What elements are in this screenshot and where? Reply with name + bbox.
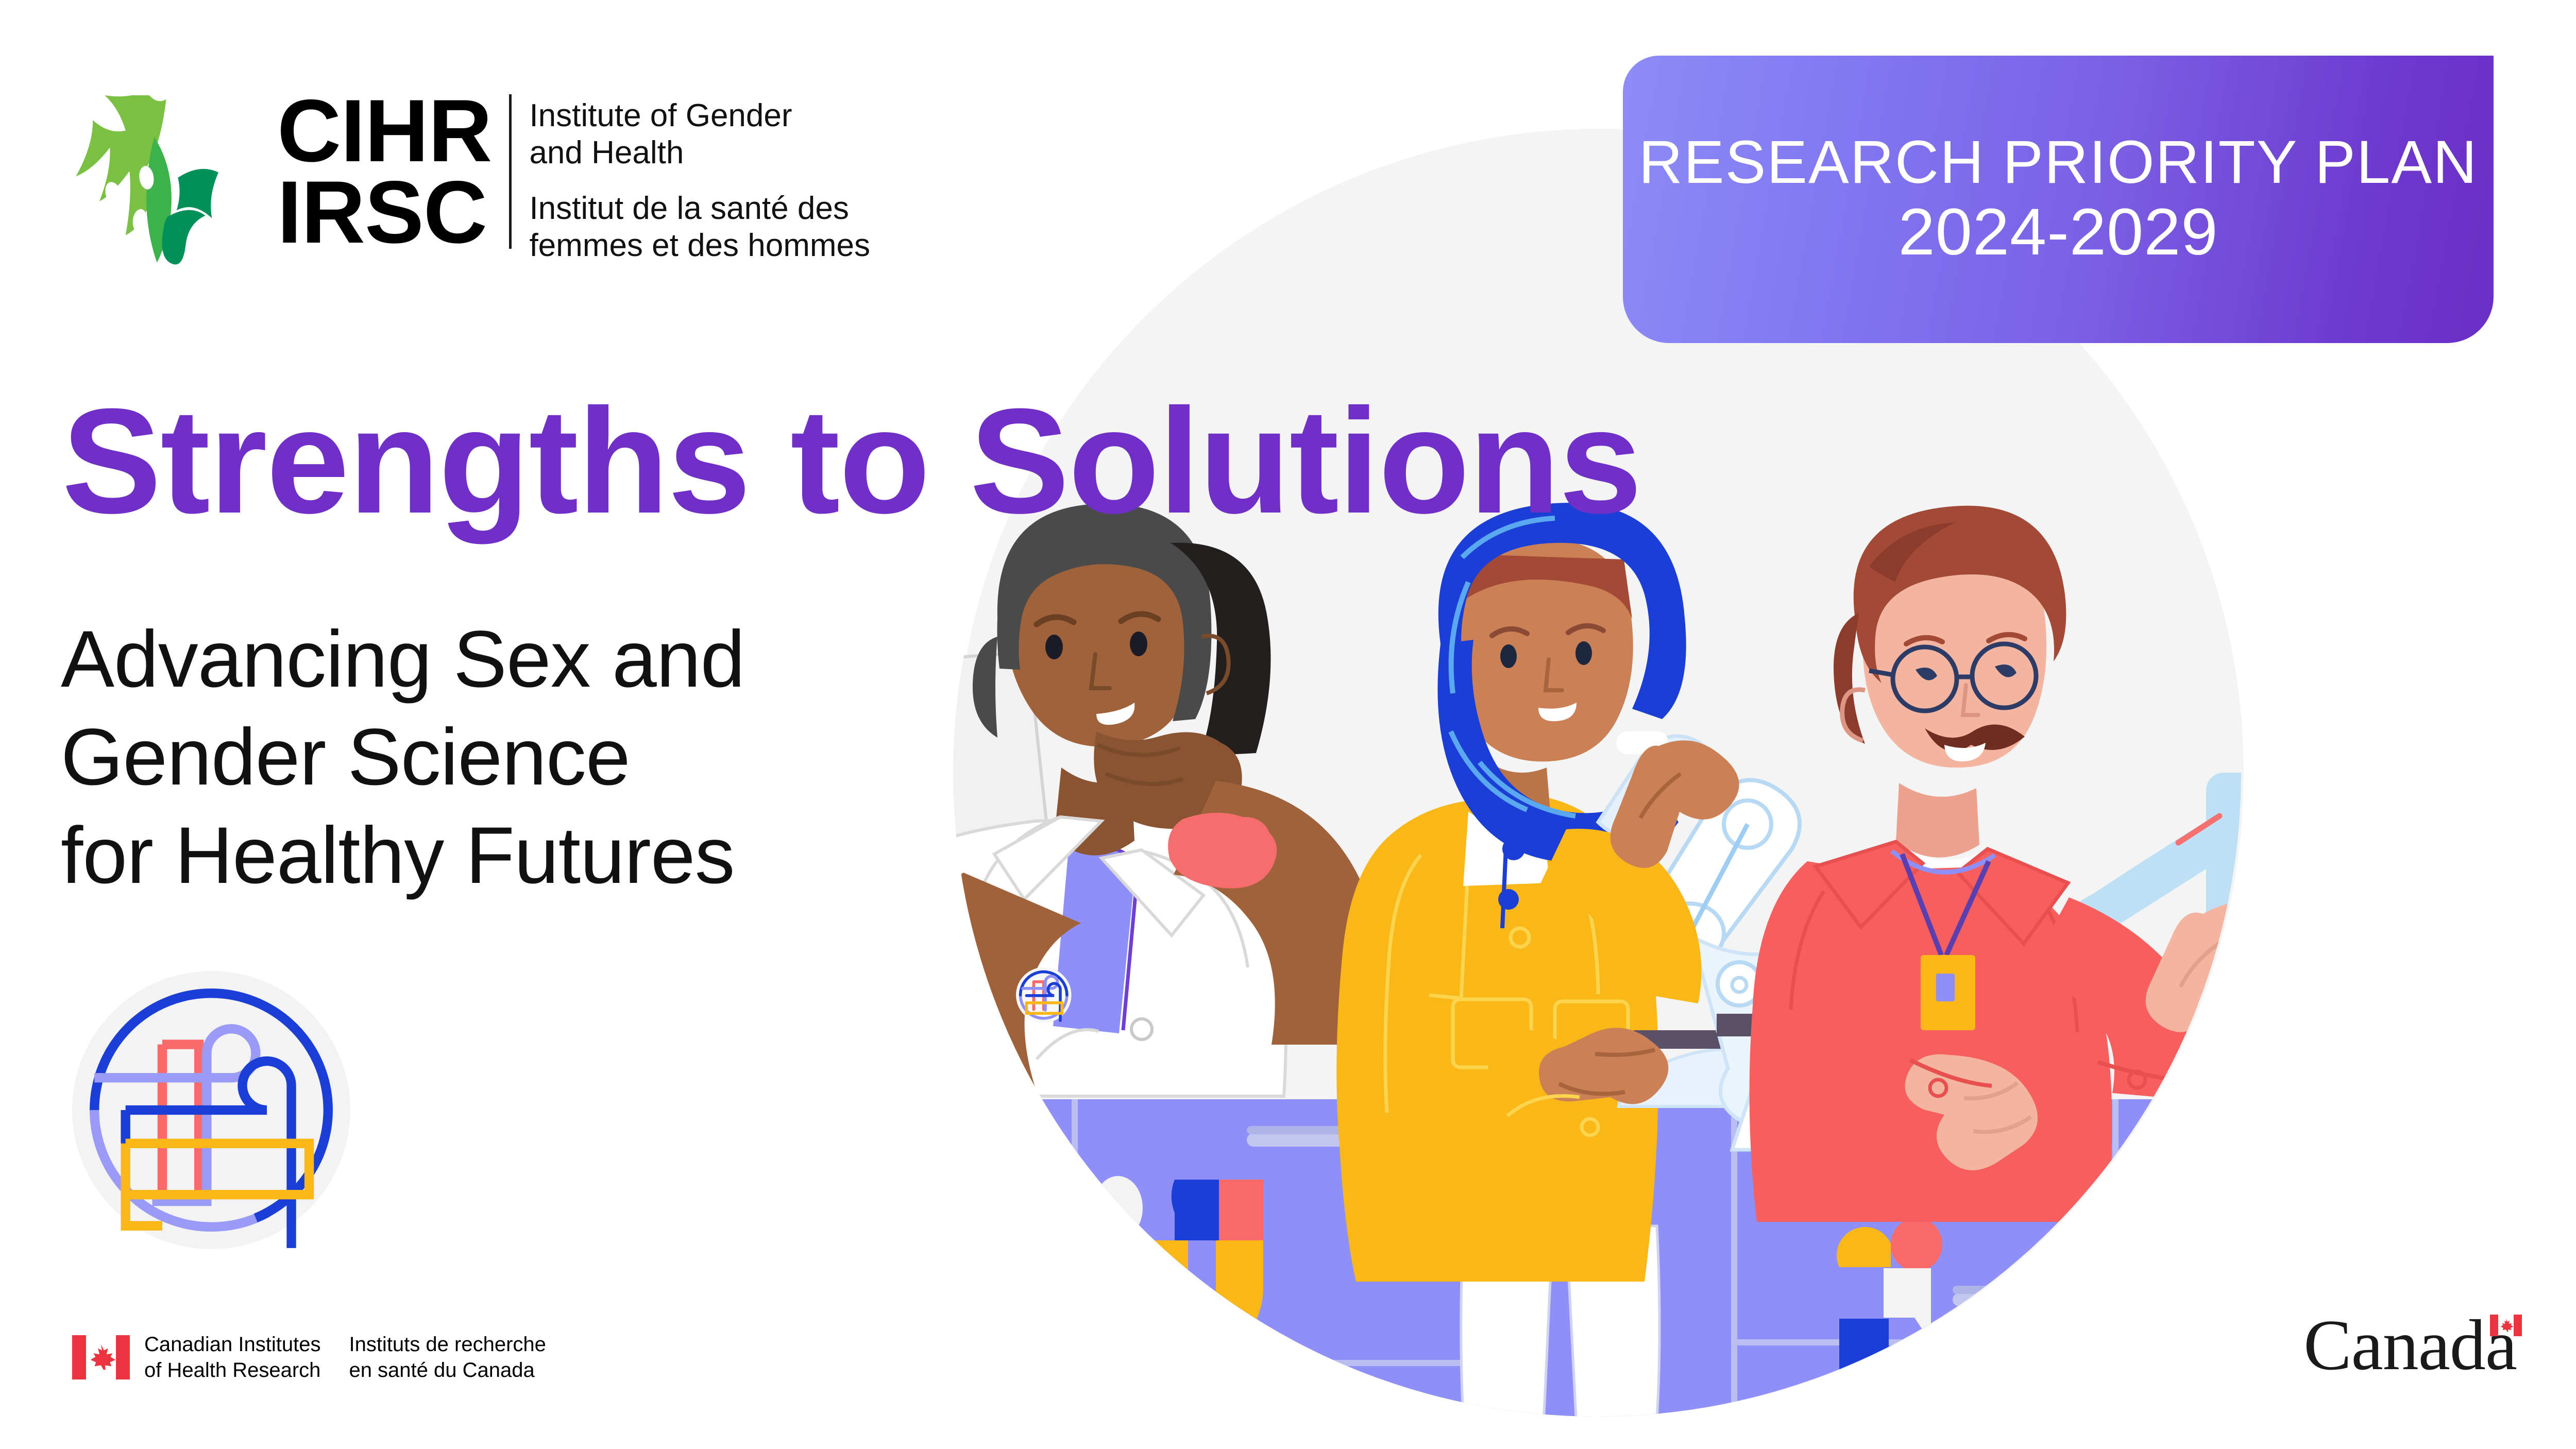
cihr-footer: Canadian Institutes of Health Research I…	[72, 1332, 546, 1383]
canada-wordmark-text: Canada	[2303, 1312, 2517, 1379]
emblem-weave-icon	[72, 971, 350, 1249]
maple-leaf-people-icon	[67, 95, 268, 265]
logo-name-fr-2: femmes et des hommes	[529, 227, 870, 264]
logo-divider	[509, 94, 512, 249]
cihr-logo: CIHR IRSC Institute of Gender and Health…	[67, 90, 870, 265]
page-title: Strengths to Solutions	[62, 386, 1659, 536]
badge-years: 2024-2029	[1898, 195, 2218, 269]
footer-fr-line-2: en santé du Canada	[349, 1357, 546, 1383]
page-subtitle: Advancing Sex and Gender Science for Hea…	[61, 610, 937, 905]
logo-acronym-en: CIHR	[277, 90, 492, 172]
footer-en-line-2: of Health Research	[144, 1357, 320, 1383]
poster-canvas: RESEARCH PRIORITY PLAN 2024-2029 CIHR IR…	[0, 0, 2576, 1449]
footer-fr-line-1: Instituts de recherche	[349, 1332, 546, 1357]
badge-title: RESEARCH PRIORITY PLAN	[1639, 130, 2478, 195]
canada-wordmark: Canada	[2303, 1312, 2522, 1379]
logo-name-fr-1: Institut de la santé des	[529, 190, 870, 227]
logo-acronym-fr: IRSC	[277, 172, 492, 253]
research-priority-plan-badge: RESEARCH PRIORITY PLAN 2024-2029	[1623, 56, 2494, 343]
lab-illustration	[855, 489, 2401, 1449]
woven-knot-emblem	[72, 971, 350, 1249]
canada-flag-icon	[2490, 1315, 2522, 1336]
logo-name-en-1: Institute of Gender	[529, 97, 870, 134]
bench-motif-left	[1093, 1176, 1263, 1365]
subtitle-line-3: for Healthy Futures	[61, 807, 937, 905]
coat-emblem-badge	[1016, 967, 1072, 1023]
figure-researcher-tablet	[1750, 506, 2347, 1222]
footer-en-line-1: Canadian Institutes	[144, 1332, 320, 1357]
maple-leaf-icon	[86, 1342, 116, 1372]
subtitle-line-2: Gender Science	[61, 708, 937, 806]
canada-flag-icon	[72, 1335, 130, 1379]
subtitle-line-1: Advancing Sex and	[61, 610, 937, 708]
maple-leaf-icon	[2498, 1318, 2514, 1333]
tablet	[2206, 773, 2347, 976]
logo-name-en-2: and Health	[529, 134, 870, 172]
